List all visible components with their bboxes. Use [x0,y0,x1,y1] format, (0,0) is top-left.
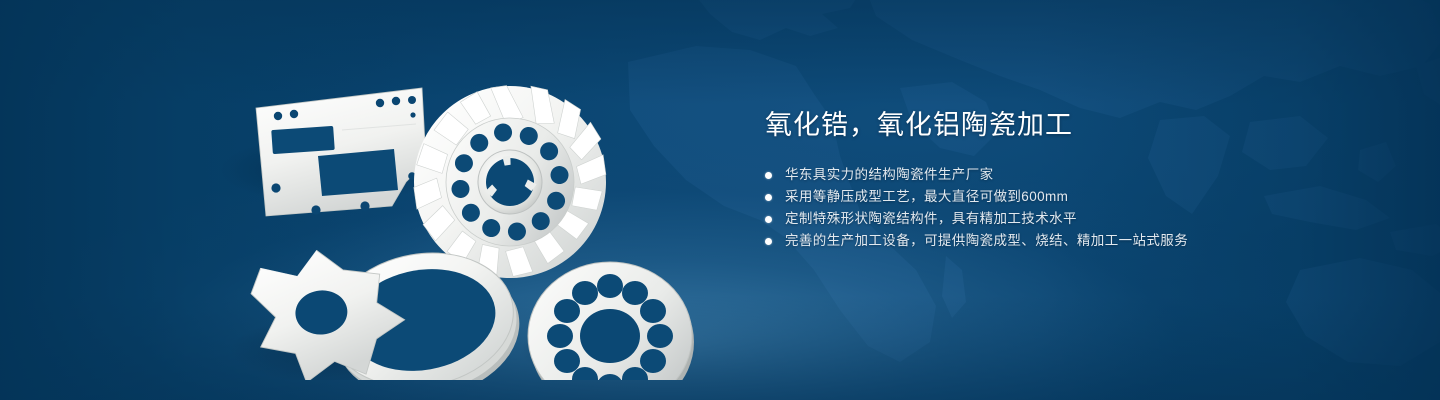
banner-copy: 氧化锆，氧化铝陶瓷加工 华东具实力的结构陶瓷件生产厂家 采用等静压成型工艺，最大… [765,108,1325,252]
page-title: 氧化锆，氧化铝陶瓷加工 [765,108,1325,142]
bullet-dot-icon [765,172,772,179]
ceramic-products-svg [210,30,730,380]
ceramic-perforated-disc [528,262,694,380]
ceramic-machined-plate [256,88,426,216]
feature-text: 完善的生产加工设备，可提供陶瓷成型、烧结、精加工一站式服务 [785,230,1188,252]
feature-text: 采用等静压成型工艺，最大直径可做到600mm [785,186,1068,208]
feature-list: 华东具实力的结构陶瓷件生产厂家 采用等静压成型工艺，最大直径可做到600mm 定… [765,164,1325,252]
list-item: 定制特殊形状陶瓷结构件，具有精加工技术水平 [765,208,1325,230]
bullet-dot-icon [765,194,772,201]
feature-text: 华东具实力的结构陶瓷件生产厂家 [785,164,994,186]
list-item: 完善的生产加工设备，可提供陶瓷成型、烧结、精加工一站式服务 [765,230,1325,252]
list-item: 采用等静压成型工艺，最大直径可做到600mm [765,186,1325,208]
bullet-dot-icon [765,216,772,223]
ceramic-products-image [210,30,730,380]
feature-text: 定制特殊形状陶瓷结构件，具有精加工技术水平 [785,208,1077,230]
hero-banner: 氧化锆，氧化铝陶瓷加工 华东具实力的结构陶瓷件生产厂家 采用等静压成型工艺，最大… [0,0,1440,400]
bullet-dot-icon [765,238,772,245]
list-item: 华东具实力的结构陶瓷件生产厂家 [765,164,1325,186]
